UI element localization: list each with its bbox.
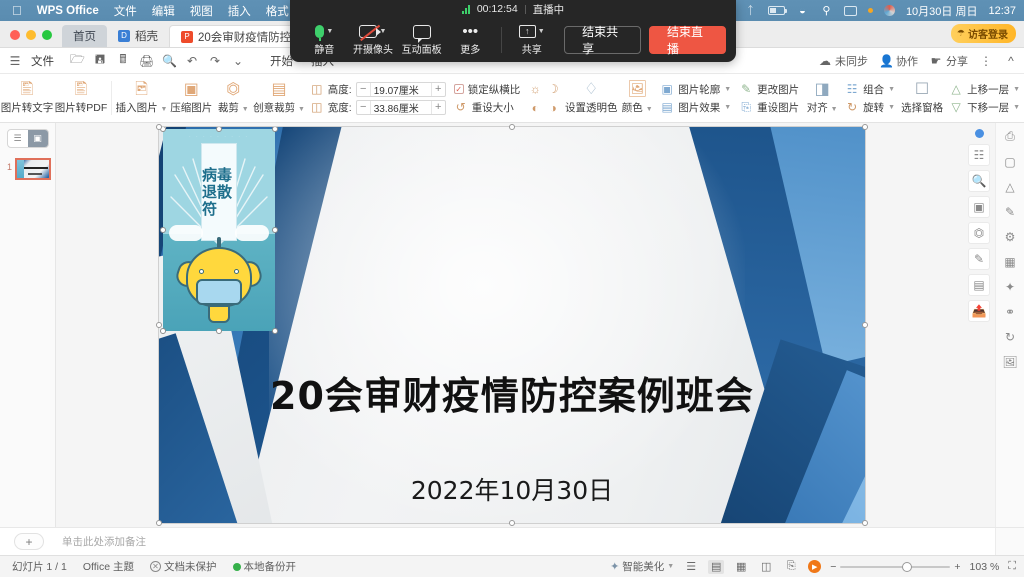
height-icon: ◫ — [310, 82, 324, 96]
slide-subtitle[interactable]: 2022年10月30日 — [159, 471, 865, 507]
battery-icon[interactable] — [768, 6, 785, 15]
chat-panel-icon — [413, 25, 431, 39]
contrast-down-icon[interactable]: ◑ — [546, 101, 560, 115]
talisman-banner: 病毒退散符 — [201, 143, 237, 241]
camera-label: 开摄像头 — [353, 41, 393, 56]
tab-docer[interactable]: D 稻壳 — [107, 25, 169, 47]
slide-canvas[interactable]: 20会审财疫情防控案例班会 2022年10月30日 · · · · · · · … — [56, 123, 1024, 527]
insert-image-label: 插入图片 ▼ — [116, 100, 168, 115]
contrast-row: ◐ ◑ — [528, 101, 560, 115]
print-preview-icon[interactable]: 🖩 — [116, 50, 130, 71]
protection-label: 文档未保护 — [164, 559, 217, 574]
wps-presentation-window:  WPS Office 文件 编辑 视图 插入 格式 工 ᛏ ◒ ⚲ 10月3… — [0, 0, 1024, 581]
set-transparent-color-button[interactable]: ♢ 设置透明色 — [564, 82, 618, 115]
magic-wand-icon: ✦ — [610, 560, 619, 573]
talisman-text: 病毒退散符 — [202, 167, 236, 218]
tab-home-label: 首页 — [73, 28, 96, 44]
set-transparent-label: 设置透明色 — [565, 100, 618, 115]
creative-crop-label: 创意裁剪 ▼ — [253, 100, 305, 115]
zoom-slider[interactable]: − + — [830, 561, 960, 573]
zoom-in-button[interactable]: + — [954, 561, 960, 573]
customize-caret-icon[interactable]: ⌄ — [231, 54, 245, 68]
change-picture-label: 更改图片 — [757, 82, 799, 97]
maximize-window-button[interactable] — [42, 30, 52, 40]
picture-content: · · · · · · · · · — [163, 129, 275, 331]
picture-tools-toolbar: 🖺 图片转文字 🖺 图片转PDF 🖻 插入图片 ▼ ▣ 压缩图片 ⏣ 裁剪 ▼ — [0, 74, 1024, 123]
insert-image-icon: 🖻 — [135, 82, 148, 98]
send-backward-label: 下移一层 — [967, 100, 1009, 115]
compress-image-label: 压缩图片 — [170, 100, 212, 115]
more-dots-icon: ••• — [462, 24, 478, 39]
reading-view-icon[interactable]: ☰ — [683, 560, 699, 574]
layers-icon[interactable]: ☷ — [968, 144, 990, 166]
thumbnail-subtitle-line — [28, 173, 42, 175]
meeting-elapsed-time: 00:12:54 — [477, 3, 518, 15]
chevron-down-icon[interactable]: ▼ — [724, 86, 731, 93]
eyedropper-icon: ♢ — [584, 82, 598, 98]
active-indicator-icon — [975, 129, 984, 138]
cloud-sync-icon: ☁ — [818, 54, 832, 68]
crop-icon: ⏣ — [226, 82, 240, 98]
print-icon[interactable]: 🖨 — [139, 54, 153, 68]
minimize-window-button[interactable] — [26, 30, 36, 40]
menu-insert[interactable]: 插入 — [228, 3, 251, 19]
crop-label: 裁剪 ▼ — [218, 100, 249, 115]
selection-pane-button[interactable]: ☐ 选择窗格 — [899, 82, 945, 115]
crop-button[interactable]: ⏣ 裁剪 ▼ — [214, 82, 252, 115]
right-side-rail: ⎙ ▢ △ ✎ ⚙ ▦ ✦ ⚭ ↻ 🖼 — [995, 123, 1024, 527]
divider — [525, 5, 526, 14]
share-label: 分享 — [946, 53, 968, 69]
open-folder-icon[interactable]: 🗁 — [70, 50, 84, 71]
chevron-down-icon[interactable]: ▼ — [888, 104, 895, 111]
more-vertical-icon[interactable]: ⋮ — [979, 54, 993, 68]
share-button[interactable]: ☛ 分享 — [929, 53, 968, 69]
group-rotate-group: ☷ 组合 ▼ ↻ 旋转 ▼ — [841, 82, 899, 115]
export-picture-icon[interactable]: 📤 — [968, 300, 990, 322]
chevron-down-icon[interactable]: ▼ — [1013, 104, 1020, 111]
picture-outline-label: 图片轮廓 — [678, 82, 720, 97]
more-button[interactable]: ••• 更多 — [446, 24, 495, 56]
rotate-icon: ↻ — [845, 100, 859, 114]
cloud-right-icon — [235, 225, 269, 241]
chevron-down-icon[interactable]: ▼ — [1013, 86, 1020, 93]
resize-handle-s[interactable] — [216, 328, 222, 334]
toolbar-divider — [111, 81, 112, 115]
rotate-label: 旋转 — [863, 100, 884, 115]
zoom-track[interactable] — [840, 566, 950, 568]
reset-picture-label: 重设图片 — [757, 100, 799, 115]
menu-file[interactable]: 文件 — [114, 3, 137, 19]
format-painter-icon[interactable]: ✎ — [968, 248, 990, 270]
zoom-knob[interactable] — [902, 562, 912, 572]
picture-style-group: ▣ 图片轮廓 ▼ ▤ 图片效果 ▼ — [656, 82, 735, 115]
camera-off-icon: ▼ — [359, 24, 386, 39]
align-icon: ◨ — [815, 82, 830, 98]
width-plus-button[interactable]: + — [432, 101, 445, 114]
sync-status-label: 未同步 — [835, 53, 868, 69]
bring-forward-label: 上移一层 — [967, 82, 1009, 97]
share-screen-icon: ↑▼ — [519, 24, 545, 39]
editor-work-area: ☰ ▣ 1 — [0, 123, 1024, 527]
file-menu-label[interactable]: 文件 — [31, 53, 54, 69]
height-plus-button[interactable]: + — [432, 83, 445, 96]
width-row: ◫ 宽度: − 33.86厘米 + — [310, 100, 446, 115]
meeting-status-label: 直播中 — [533, 2, 565, 17]
slide-count-label: 幻灯片 1 / 1 — [12, 559, 67, 574]
insert-image-button[interactable]: 🖻 插入图片 ▼ — [115, 82, 169, 115]
unprotected-icon: ✕ — [150, 561, 161, 572]
bluetooth-icon[interactable]: ᛏ — [744, 5, 757, 17]
end-live-label: 结束直播 — [667, 23, 708, 57]
menu-view[interactable]: 视图 — [190, 3, 213, 19]
resize-handle-e[interactable] — [272, 227, 278, 233]
creative-crop-button[interactable]: ▤ 创意裁剪 ▼ — [252, 82, 306, 115]
thumbnail-view-icon[interactable]: ▣ — [28, 130, 48, 147]
picture-color-button[interactable]: 🖼 颜色 ▼ — [618, 82, 656, 115]
wifi-icon[interactable]: ◒ — [796, 5, 809, 17]
lock-ratio-row[interactable]: ✓ 锁定纵横比 — [454, 82, 521, 97]
character-legs — [208, 305, 230, 323]
fit-to-window-icon[interactable]: ⛶ — [1008, 560, 1016, 573]
slide-editing-surface[interactable]: 20会审财疫情防控案例班会 2022年10月30日 · · · · · · · … — [159, 127, 865, 523]
pen-tool-icon[interactable]: ✎ — [1005, 205, 1015, 219]
chevron-down-icon[interactable]: ▼ — [724, 104, 731, 111]
wps-office-app: 首页 D 稻壳 P 20会审财疫情防控主题班 ☂ 访客登录 ☰ 文件 🗁 — [0, 21, 1024, 581]
brightness-row: ☼ ☽ — [528, 82, 560, 96]
control-center-icon[interactable] — [844, 6, 857, 16]
image-to-pdf-label: 图片转PDF — [55, 100, 108, 115]
notes-view-icon[interactable]: ◫ — [758, 560, 774, 574]
apple-icon[interactable]:  — [12, 4, 22, 17]
collaborate-icon: 👤 — [879, 54, 893, 68]
redo-icon[interactable]: ↷ — [208, 54, 222, 68]
send-backward-row[interactable]: ▽ 下移一层 ▼ — [949, 100, 1020, 115]
frame-handle-n[interactable] — [509, 124, 515, 130]
notes-bar: + 单击此处添加备注 — [0, 527, 1024, 555]
reset-size-row[interactable]: ↺ 重设大小 — [454, 100, 521, 115]
character-eye-left — [199, 269, 204, 274]
more-label: 更多 — [460, 41, 480, 56]
bring-forward-icon: △ — [949, 82, 963, 96]
history-clock-icon[interactable]: ↻ — [1005, 330, 1015, 344]
frame-handle-e[interactable] — [862, 322, 868, 328]
collaborate-button[interactable]: 👤 协作 — [879, 53, 918, 69]
share-screen-label: 共享 — [522, 41, 542, 56]
align-button[interactable]: ◨ 对齐 ▼ — [803, 82, 841, 115]
reset-picture-icon: ⎘ — [739, 100, 753, 115]
presentation-file-icon: P — [181, 31, 193, 43]
zoom-percent-label: 103 % — [970, 561, 1000, 573]
image-adjust-icon[interactable]: ▤ — [968, 274, 990, 296]
brightness-contrast-group: ☼ ☽ ◐ ◑ — [524, 82, 564, 115]
order-group: △ 上移一层 ▼ ▽ 下移一层 ▼ — [945, 82, 1024, 115]
notes-placeholder[interactable]: 单击此处添加备注 — [62, 534, 146, 549]
close-window-button[interactable] — [10, 30, 20, 40]
ratio-group: ✓ 锁定纵横比 ↺ 重设大小 — [450, 82, 525, 115]
find-icon[interactable]: 🔍 — [162, 54, 176, 68]
compress-image-button[interactable]: ▣ 压缩图片 — [168, 82, 214, 115]
picture-effects-row[interactable]: ▤ 图片效果 ▼ — [660, 100, 731, 115]
virus-talisman-picture[interactable]: · · · · · · · · · — [163, 129, 275, 331]
change-picture-row[interactable]: ✎ 更改图片 — [739, 82, 799, 97]
brightness-up-icon[interactable]: ☼ — [528, 82, 542, 96]
meeting-floating-toolbar: 00:12:54 直播中 ▼ 静音 ▼ 开摄像头 互动面板 ••• 更多 — [290, 0, 736, 62]
rail-bottom-filler — [995, 528, 1024, 556]
guest-login-badge[interactable]: ☂ 访客登录 — [951, 24, 1016, 43]
theme-label[interactable]: Office 主题 — [83, 559, 134, 574]
guest-login-label: 访客登录 — [968, 26, 1008, 41]
outline-view-icon[interactable]: ☰ — [8, 130, 28, 147]
chevron-down-icon[interactable]: ▼ — [667, 563, 674, 570]
slide-title[interactable]: 20会审财疫情防控案例班会 — [159, 365, 865, 420]
lock-ratio-label: 锁定纵横比 — [468, 82, 521, 97]
image-to-text-label: 图片转文字 — [1, 100, 54, 115]
resize-handle-se[interactable] — [272, 328, 278, 334]
resize-handle-sw[interactable] — [160, 328, 166, 334]
compress-image-icon: ▣ — [184, 82, 199, 98]
height-minus-button[interactable]: − — [357, 83, 370, 96]
size-group: ◫ 高度: − 19.07厘米 + ◫ 宽度: − 33.86厘米 + — [306, 82, 450, 115]
height-row: ◫ 高度: − 19.07厘米 + — [310, 82, 446, 97]
sync-status[interactable]: ☁ 未同步 — [818, 53, 868, 69]
settings-gear-icon[interactable]: ⚙ — [1005, 230, 1016, 244]
contrast-up-icon[interactable]: ◐ — [528, 101, 542, 115]
floating-picture-tools: ☷ 🔍 ▣ ⏣ ✎ ▤ 📤 — [967, 129, 991, 322]
height-value[interactable]: 19.07厘米 — [370, 82, 432, 97]
crop-tool-icon[interactable]: ⏣ — [968, 222, 990, 244]
resize-handle-w[interactable] — [160, 227, 166, 233]
picture-effects-icon: ▤ — [660, 100, 674, 114]
thumbnail-title-line — [24, 167, 48, 169]
bg-sheen — [269, 127, 745, 523]
shapes-icon[interactable]: ▢ — [1004, 155, 1015, 169]
image-to-pdf-button[interactable]: 🖺 图片转PDF — [54, 82, 108, 115]
brightness-down-icon[interactable]: ☽ — [546, 82, 560, 96]
user-avatar-icon[interactable] — [884, 5, 895, 16]
change-picture-icon: ✎ — [739, 82, 753, 96]
reset-picture-row[interactable]: ⎘ 重设图片 — [739, 100, 799, 115]
width-icon: ◫ — [310, 100, 324, 114]
share-icon: ☛ — [929, 54, 943, 68]
menu-format[interactable]: 格式 — [266, 3, 289, 19]
present-view-icon[interactable]: ⎘ — [783, 560, 799, 574]
microphone-icon: ▼ — [315, 24, 333, 39]
slide-thumbnail[interactable] — [15, 158, 51, 180]
chevron-up-icon[interactable]: ^ — [1004, 54, 1018, 68]
guest-user-icon: ☂ — [957, 28, 965, 39]
tab-home[interactable]: 首页 — [62, 25, 107, 47]
share-screen-button[interactable]: ↑▼ 共享 — [507, 24, 556, 56]
reset-size-icon: ↺ — [454, 100, 468, 114]
picture-color-label: 颜色 ▼ — [622, 100, 653, 115]
group-label: 组合 — [863, 82, 884, 97]
undo-icon[interactable]: ↶ — [185, 54, 199, 68]
meeting-controls-row: ▼ 静音 ▼ 开摄像头 互动面板 ••• 更多 ↑▼ 共享 结束共享 — [290, 18, 736, 62]
design-ideas-icon[interactable]: ✦ — [1005, 280, 1015, 294]
group-icon: ☷ — [845, 82, 859, 96]
hamburger-menu-icon[interactable]: ☰ — [8, 54, 22, 68]
frame-handle-nw[interactable] — [156, 124, 162, 130]
selection-pane-label: 选择窗格 — [901, 100, 943, 115]
slide-thumbnail-pane: ☰ ▣ 1 — [0, 123, 56, 527]
window-controls[interactable] — [0, 30, 62, 47]
image-to-text-button[interactable]: 🖺 图片转文字 — [0, 82, 54, 115]
end-live-button[interactable]: 结束直播 — [649, 26, 726, 54]
frame-handle-se[interactable] — [862, 520, 868, 526]
backup-on-icon — [233, 563, 241, 571]
slide-number: 1 — [4, 158, 12, 172]
normal-view-icon[interactable]: ▤ — [708, 560, 724, 574]
smart-beautify-label: 智能美化 — [622, 559, 664, 574]
cloud-left-icon — [169, 225, 203, 241]
width-label: 宽度: — [328, 100, 352, 115]
image-to-text-icon: 🖺 — [21, 82, 34, 98]
lock-ratio-checkbox[interactable]: ✓ — [454, 84, 464, 94]
rotate-row[interactable]: ↻ 旋转 ▼ — [845, 100, 895, 115]
mute-button[interactable]: ▼ 静音 — [300, 24, 349, 56]
signal-bars-icon — [462, 5, 470, 14]
save-icon[interactable]: 🖪 — [93, 50, 107, 71]
slide-thumbnail-item[interactable]: 1 — [4, 158, 51, 180]
menu-edit[interactable]: 编辑 — [152, 3, 175, 19]
group-row[interactable]: ☷ 组合 ▼ — [845, 82, 895, 97]
backup-label: 本地备份开 — [244, 559, 297, 574]
protection-status[interactable]: ✕ 文档未保护 — [150, 559, 217, 574]
window-panel-icon[interactable]: ▦ — [1004, 255, 1015, 269]
character-eye-right — [234, 269, 239, 274]
mute-label: 静音 — [314, 41, 334, 56]
end-share-label: 结束共享 — [582, 23, 623, 57]
zoom-search-icon[interactable]: 🔍 — [968, 170, 990, 192]
image-to-pdf-icon: 🖺 — [75, 82, 88, 98]
interactive-panel-button[interactable]: 互动面板 — [397, 25, 446, 56]
picture-effects-label: 图片效果 — [678, 100, 720, 115]
picture-change-group: ✎ 更改图片 ⎘ 重设图片 — [735, 82, 803, 115]
backup-status[interactable]: 本地备份开 — [233, 559, 297, 574]
play-slideshow-icon[interactable]: ▶ — [808, 560, 821, 573]
meeting-status-line: 00:12:54 直播中 — [290, 0, 736, 18]
add-slide-icon[interactable]: + — [14, 533, 44, 550]
align-label: 对齐 ▼ — [807, 100, 838, 115]
slide-sorter-icon[interactable]: ▦ — [733, 560, 749, 574]
end-share-button[interactable]: 结束共享 — [564, 26, 641, 54]
status-dot-icon — [868, 8, 873, 13]
decorative-dots: · · · · · · · · · — [163, 134, 275, 140]
smart-beautify-button[interactable]: ✦ 智能美化 ▼ — [610, 559, 674, 574]
picture-frame-icon[interactable]: ▣ — [968, 196, 990, 218]
width-minus-button[interactable]: − — [357, 101, 370, 114]
spotlight-search-icon[interactable]: ⚲ — [820, 4, 833, 17]
camera-button[interactable]: ▼ 开摄像头 — [349, 24, 398, 56]
collaborate-label: 协作 — [896, 53, 918, 69]
menu-app-name[interactable]: WPS Office — [37, 5, 99, 17]
tab-docer-label: 稻壳 — [135, 28, 158, 44]
status-bar: 幻灯片 1 / 1 Office 主题 ✕ 文档未保护 本地备份开 ✦ 智能美化… — [0, 555, 1024, 577]
frame-handle-sw[interactable] — [156, 520, 162, 526]
height-label: 高度: — [328, 82, 352, 97]
warning-triangle-icon[interactable]: △ — [1005, 180, 1014, 194]
bring-forward-row[interactable]: △ 上移一层 ▼ — [949, 82, 1020, 97]
sliders-icon[interactable]: ⚭ — [1005, 305, 1015, 319]
meeting-divider — [501, 27, 502, 53]
chevron-down-icon[interactable]: ▼ — [888, 86, 895, 93]
creative-crop-icon: ▤ — [271, 82, 286, 98]
docer-icon: D — [118, 30, 130, 42]
frame-handle-w[interactable] — [156, 322, 162, 328]
width-value[interactable]: 33.86厘米 — [370, 100, 432, 115]
menu-bar-date: 10月30日 周日 — [906, 3, 978, 19]
image-library-icon[interactable]: 🖼 — [1002, 355, 1017, 369]
interactive-panel-label: 互动面板 — [402, 41, 442, 56]
picture-outline-icon: ▣ — [660, 82, 674, 96]
frame-handle-s[interactable] — [509, 520, 515, 526]
picture-outline-row[interactable]: ▣ 图片轮廓 ▼ — [660, 82, 731, 97]
reset-size-label: 重设大小 — [472, 100, 514, 115]
thumbnail-picture — [17, 160, 24, 180]
frame-handle-ne[interactable] — [862, 124, 868, 130]
zoom-out-button[interactable]: − — [830, 561, 836, 573]
menu-bar-time: 12:37 — [988, 5, 1016, 17]
width-stepper[interactable]: − 33.86厘米 + — [356, 100, 446, 115]
view-toggle[interactable]: ☰ ▣ — [7, 129, 49, 148]
height-stepper[interactable]: − 19.07厘米 + — [356, 82, 446, 97]
send-backward-icon: ▽ — [949, 100, 963, 114]
face-mask-icon — [196, 279, 242, 305]
selection-pane-icon: ☐ — [915, 82, 929, 98]
duplicate-slide-icon[interactable]: ⎙ — [1005, 129, 1015, 144]
picture-color-icon: 🖼 — [627, 82, 647, 98]
